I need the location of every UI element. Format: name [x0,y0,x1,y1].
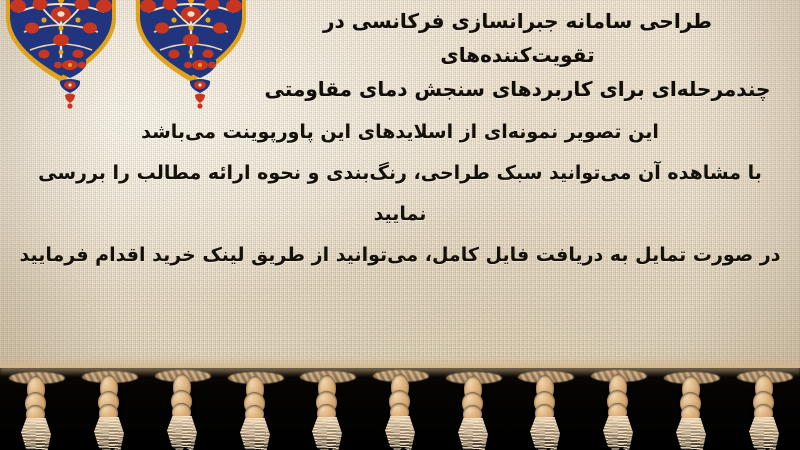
tassel [92,375,126,450]
slide-body-line-2: با مشاهده آن می‌توانید سبک طراحی، رنگ‌بن… [14,153,786,235]
tassel [19,376,53,450]
tassel [601,374,635,450]
slide-title: طراحی سامانه جبرانسازی فرکانسی در تقویت‌… [245,4,790,106]
tassel-skirt [603,416,633,450]
tassel [528,375,562,450]
tassel [238,376,272,450]
slide-title-line-1: طراحی سامانه جبرانسازی فرکانسی در تقویت‌… [245,4,790,72]
tassel-skirt [94,417,124,450]
tassel-skirt [530,417,560,450]
tassel [456,376,490,450]
tassel-skirt [167,416,197,450]
text-layer: طراحی سامانه جبرانسازی فرکانسی در تقویت‌… [0,0,800,380]
tassel-skirt [676,418,706,450]
slide-canvas: طراحی سامانه جبرانسازی فرکانسی در تقویت‌… [0,0,800,450]
slide-title-line-2: چندمرحله‌ای برای کاربردهای سنجش دمای مقا… [245,72,790,106]
tassel-skirt [312,417,342,450]
tassel [165,374,199,450]
tassel-skirt [240,418,270,450]
carpet-tassel-fringe [0,368,800,450]
tassel [674,376,708,450]
tassel [747,375,781,450]
slide-body-line-3: در صورت تمایل به دریافت فایل کامل، می‌تو… [14,235,786,276]
tassel [383,374,417,450]
tassel-skirt [21,418,51,450]
slide-body-line-1: این تصویر نمونه‌ای از اسلایدهای این پاور… [14,112,786,153]
slide-body: این تصویر نمونه‌ای از اسلایدهای این پاور… [14,112,786,276]
tassel-skirt [385,416,415,450]
tassel-skirt [458,418,488,450]
tassel-skirt [749,417,779,450]
tassel [310,375,344,450]
